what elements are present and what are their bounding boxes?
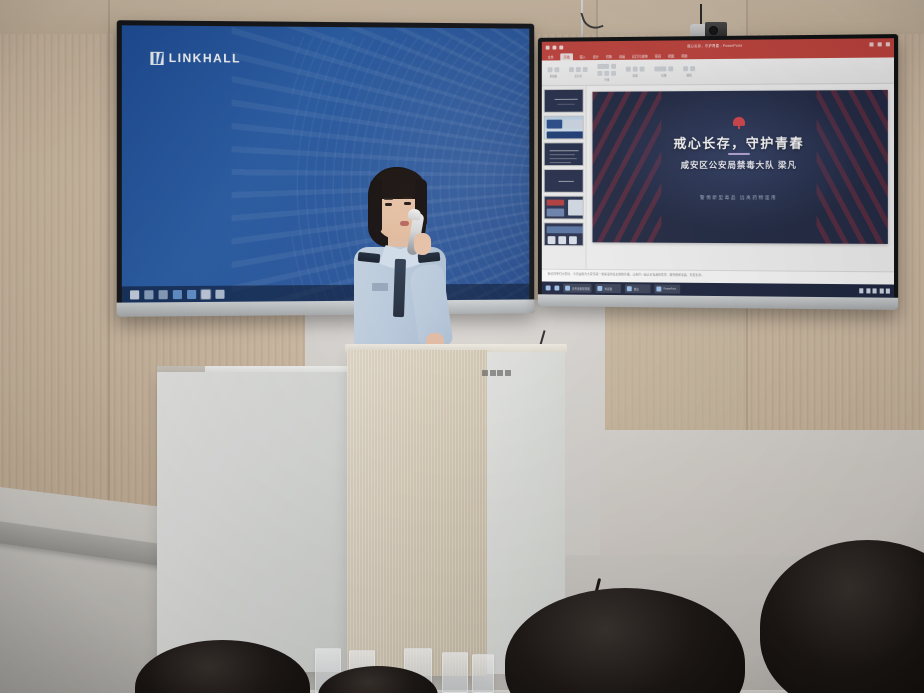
taskbar-button-label: 浏览器 — [604, 287, 612, 291]
eye-left — [385, 203, 392, 206]
undo-icon[interactable] — [552, 45, 556, 49]
tab-help[interactable]: 帮助 — [681, 53, 687, 58]
slide-thumbnail[interactable] — [544, 222, 584, 246]
tab-slideshow[interactable]: 幻灯片放映 — [632, 53, 648, 58]
ribbon-group-label: 幻灯片 — [575, 74, 583, 78]
paste-icon[interactable] — [548, 67, 553, 72]
underline-icon[interactable] — [611, 70, 616, 75]
tab-insert[interactable]: 插入 — [580, 54, 586, 59]
taskbar-button-browser[interactable]: 浏览器 — [596, 284, 622, 293]
slide-title: 戒心长存，守护青春 — [592, 132, 887, 152]
app-window-icon[interactable] — [201, 289, 210, 298]
bullets-icon[interactable] — [626, 67, 631, 72]
wall-seam — [108, 0, 110, 560]
glass-cup — [472, 654, 494, 693]
taskbar-button-label: PowerPoint — [663, 288, 676, 291]
tab-review[interactable]: 审阅 — [655, 53, 661, 58]
slide-divider — [727, 153, 749, 155]
red-umbrella-shield-icon — [732, 117, 744, 126]
ime-icon[interactable] — [879, 288, 883, 293]
maximize-icon[interactable] — [878, 42, 882, 46]
podium-center-panel — [347, 350, 487, 676]
linkhall-square-logo-icon — [150, 51, 163, 64]
numbering-icon[interactable] — [633, 67, 638, 72]
eyebrow-right — [403, 197, 412, 199]
ribbon-group-label: 剪贴板 — [550, 74, 558, 78]
clock-icon[interactable] — [886, 289, 890, 294]
plate-glyph — [505, 370, 511, 376]
tab-home[interactable]: 开始 — [561, 53, 573, 60]
taskbar-button-label: 微信 — [634, 287, 639, 291]
document-title: 戒心长存，守护青春 - PowerPoint — [687, 43, 742, 49]
cut-icon[interactable] — [554, 67, 559, 72]
left-display-screen[interactable]: LINKHALL — [122, 25, 529, 302]
italic-icon[interactable] — [604, 70, 609, 75]
slide-thumbnail[interactable] — [544, 196, 584, 220]
eyebrow-left — [384, 198, 393, 200]
save-icon[interactable] — [546, 45, 550, 49]
find-icon[interactable] — [683, 66, 688, 71]
quick-access-toolbar[interactable] — [546, 45, 564, 49]
ribbon-group-slides[interactable]: 幻灯片 — [569, 67, 588, 78]
slide-subtitle: 咸安区公安局禁毒大队 梁凡 — [592, 159, 887, 171]
system-tray[interactable] — [859, 288, 890, 293]
layout-icon[interactable] — [576, 67, 581, 72]
taskbar-button-explorer[interactable]: 文件资源管理器 — [563, 284, 591, 293]
powerpoint-icon — [657, 286, 662, 291]
powerpoint-body: 戒心长存，守护青春 咸安区公安局禁毒大队 梁凡 警惕新型毒品 远离药物滥用 — [542, 84, 894, 272]
ribbon-group-font[interactable]: 字体 — [597, 63, 616, 81]
slide-thumbnail[interactable] — [544, 169, 584, 193]
hair-side-left — [370, 179, 382, 233]
volume-icon[interactable] — [866, 288, 870, 293]
search-icon[interactable] — [144, 290, 153, 299]
settings-icon[interactable] — [215, 289, 224, 298]
close-icon[interactable] — [886, 42, 890, 46]
tab-file[interactable]: 文件 — [548, 54, 554, 59]
podium-name-plate: 咸宁实验学校 — [482, 369, 512, 376]
ribbon-group-label: 绘图 — [661, 73, 666, 77]
camera-arm — [700, 4, 702, 26]
slide-tagline: 警惕新型毒品 远离药物滥用 — [592, 195, 887, 202]
windows-start-icon[interactable] — [546, 285, 551, 290]
network-icon[interactable] — [859, 288, 863, 293]
eye-right — [404, 202, 411, 205]
ribbon-group-drawing[interactable]: 绘图 — [654, 66, 673, 77]
slide-thumbnail[interactable] — [544, 142, 584, 166]
ribbon-group-label: 段落 — [633, 74, 638, 78]
window-controls[interactable] — [869, 42, 889, 46]
tab-transitions[interactable]: 切换 — [606, 53, 612, 58]
bold-icon[interactable] — [597, 70, 602, 75]
plate-glyph — [482, 370, 488, 376]
redo-icon[interactable] — [559, 45, 563, 49]
powerpoint-window[interactable]: 戒心长存，守护青春 - PowerPoint 文件 开始 插入 设计 切换 动画… — [542, 38, 894, 298]
ribbon-group-paragraph[interactable]: 段落 — [626, 67, 645, 78]
ribbon-group-editing[interactable]: 编辑 — [683, 66, 695, 77]
plate-glyph — [490, 370, 496, 376]
linkhall-brand-label: LINKHALL — [169, 51, 241, 66]
file-explorer-icon[interactable] — [173, 290, 182, 299]
glass-cup — [442, 652, 468, 693]
hand-right — [414, 233, 431, 255]
slide-thumbnail[interactable] — [544, 89, 584, 113]
slide-editing-area[interactable]: 戒心长存，守护青春 咸安区公安局禁毒大队 梁凡 警惕新型毒品 远离药物滥用 — [587, 84, 894, 272]
linkhall-logo: LINKHALL — [150, 51, 240, 66]
presenter — [330, 165, 462, 365]
uniform-badge — [372, 283, 388, 291]
search-icon[interactable] — [554, 286, 559, 291]
chat-icon — [627, 286, 632, 291]
ribbon[interactable]: 剪贴板 幻灯片 字体 段落 绘图 — [542, 57, 894, 86]
ribbon-group-clipboard[interactable]: 剪贴板 — [548, 67, 560, 78]
new-slide-icon[interactable] — [569, 67, 574, 72]
shape-fill-icon[interactable] — [668, 66, 673, 71]
slide-thumbnail-panel[interactable] — [542, 86, 587, 269]
reset-icon[interactable] — [583, 67, 588, 72]
tab-view[interactable]: 视图 — [668, 53, 674, 58]
taskbar-button-powerpoint[interactable]: PowerPoint — [655, 284, 681, 293]
ribbon-group-label: 字体 — [604, 77, 609, 81]
taskbar-button-label: 文件资源管理器 — [572, 286, 590, 290]
minimize-icon[interactable] — [869, 42, 873, 46]
tab-animations[interactable]: 动画 — [619, 53, 625, 58]
plate-glyph — [497, 370, 503, 376]
browser-icon — [598, 286, 603, 291]
align-left-icon[interactable] — [640, 67, 645, 72]
podium-left-panel — [157, 372, 347, 672]
tab-design[interactable]: 设计 — [593, 54, 599, 59]
current-slide[interactable]: 戒心长存，守护青春 咸安区公安局禁毒大队 梁凡 警惕新型毒品 远离药物滥用 — [592, 90, 887, 244]
windows-start-icon[interactable] — [130, 290, 139, 299]
pen-icon[interactable] — [159, 290, 168, 299]
browser-icon[interactable] — [187, 289, 196, 298]
shapes-gallery[interactable] — [654, 66, 666, 71]
folder-icon — [565, 286, 570, 291]
font-family-select[interactable] — [597, 63, 609, 68]
battery-icon[interactable] — [873, 288, 877, 293]
slide-thumbnail[interactable] — [544, 116, 584, 140]
taskbar-button-chat[interactable]: 微信 — [625, 284, 651, 293]
ribbon-group-label: 编辑 — [687, 73, 692, 77]
mouth — [400, 221, 409, 226]
left-display[interactable]: LINKHALL — [117, 20, 534, 317]
right-display[interactable]: 戒心长存，守护青春 - PowerPoint 文件 开始 插入 设计 切换 动画… — [538, 34, 898, 310]
photo-scene: LINKHALL 戒心长存，守护青春 - Pow — [0, 0, 924, 693]
necktie — [393, 259, 406, 317]
font-size-select[interactable] — [611, 63, 616, 68]
replace-icon[interactable] — [690, 66, 695, 71]
